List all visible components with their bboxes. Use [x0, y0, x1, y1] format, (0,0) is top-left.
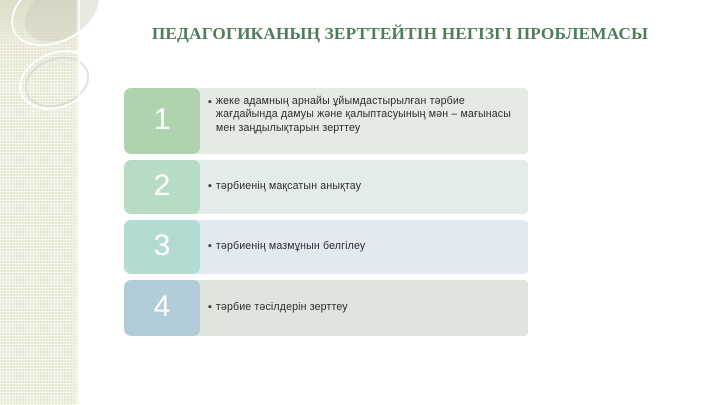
list-item[interactable]: 1 ▪ жеке адамның арнайы ұйымдастырылған … — [124, 88, 528, 154]
list-item[interactable]: 3 ▪ тәрбиенің мазмұнын белгілеу — [124, 220, 528, 274]
bullet-icon: ▪ — [208, 240, 212, 253]
item-number-badge: 1 — [124, 88, 200, 154]
item-text-panel: ▪ тәрбиенің мазмұнын белгілеу — [192, 220, 528, 274]
item-text-panel: ▪ тәрбие тәсілдерін зерттеу — [192, 280, 528, 336]
page-title: ПЕДАГОГИКАНЫҢ ЗЕРТТЕЙТІН НЕГІЗГІ ПРОБЛЕМ… — [90, 24, 710, 44]
item-label: тәрбиенің мазмұнын белгілеу — [216, 240, 518, 253]
item-text-panel: ▪ тәрбиенің мақсатын анықтау — [192, 160, 528, 214]
item-number-badge: 2 — [124, 160, 200, 214]
band-edge-fade — [76, 0, 80, 405]
bullet-icon: ▪ — [208, 96, 212, 109]
slide-canvas: ПЕДАГОГИКАНЫҢ ЗЕРТТЕЙТІН НЕГІЗГІ ПРОБЛЕМ… — [0, 0, 720, 405]
item-label: тәрбиенің мақсатын анықтау — [216, 180, 518, 193]
item-number-badge: 4 — [124, 280, 200, 336]
list-item[interactable]: 2 ▪ тәрбиенің мақсатын анықтау — [124, 160, 528, 214]
numbered-items-list: 1 ▪ жеке адамның арнайы ұйымдастырылған … — [124, 88, 528, 342]
bullet-icon: ▪ — [208, 180, 212, 193]
item-number-badge: 3 — [124, 220, 200, 274]
bullet-icon: ▪ — [208, 301, 212, 314]
item-label: тәрбие тәсілдерін зерттеу — [216, 301, 518, 314]
item-text-panel: ▪ жеке адамның арнайы ұйымдастырылған тә… — [192, 88, 528, 154]
item-label: жеке адамның арнайы ұйымдастырылған тәрб… — [216, 95, 518, 135]
list-item[interactable]: 4 ▪ тәрбие тәсілдерін зерттеу — [124, 280, 528, 336]
